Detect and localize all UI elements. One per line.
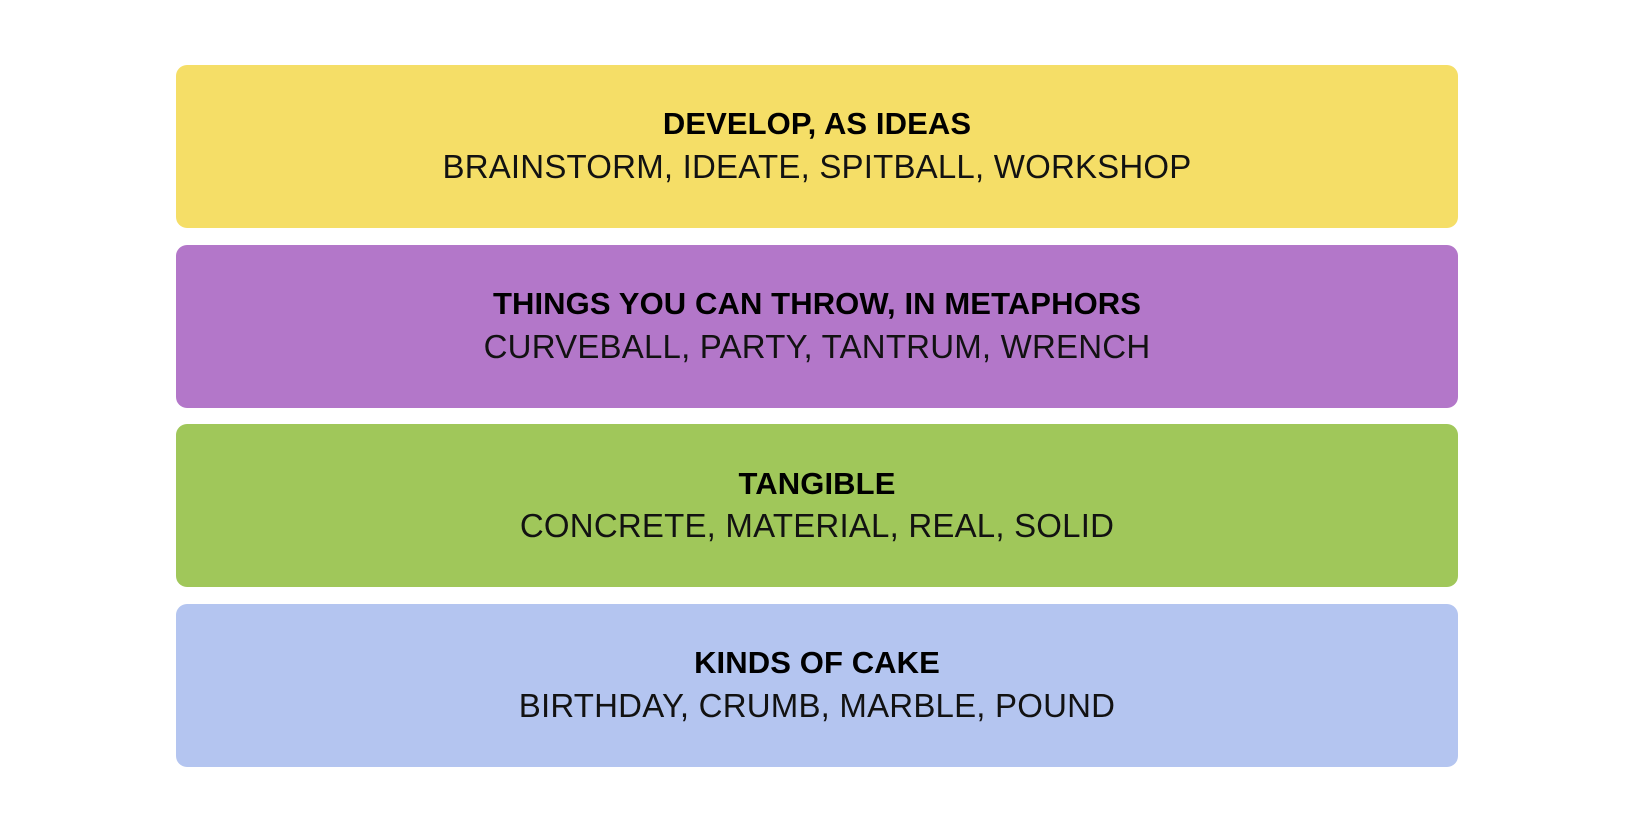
group-members: BIRTHDAY, CRUMB, MARBLE, POUND bbox=[519, 685, 1115, 728]
group-card-purple[interactable]: THINGS YOU CAN THROW, IN METAPHORS CURVE… bbox=[176, 245, 1458, 408]
group-card-green[interactable]: TANGIBLE CONCRETE, MATERIAL, REAL, SOLID bbox=[176, 424, 1458, 587]
group-title: KINDS OF CAKE bbox=[694, 643, 940, 683]
group-title: THINGS YOU CAN THROW, IN METAPHORS bbox=[493, 284, 1141, 324]
connections-board: DEVELOP, AS IDEAS BRAINSTORM, IDEATE, SP… bbox=[176, 65, 1458, 767]
group-members: CURVEBALL, PARTY, TANTRUM, WRENCH bbox=[484, 326, 1151, 369]
group-members: CONCRETE, MATERIAL, REAL, SOLID bbox=[520, 505, 1114, 548]
group-card-blue[interactable]: KINDS OF CAKE BIRTHDAY, CRUMB, MARBLE, P… bbox=[176, 604, 1458, 767]
group-members: BRAINSTORM, IDEATE, SPITBALL, WORKSHOP bbox=[442, 146, 1191, 189]
group-title: DEVELOP, AS IDEAS bbox=[663, 104, 971, 144]
group-card-yellow[interactable]: DEVELOP, AS IDEAS BRAINSTORM, IDEATE, SP… bbox=[176, 65, 1458, 228]
group-title: TANGIBLE bbox=[739, 464, 896, 504]
